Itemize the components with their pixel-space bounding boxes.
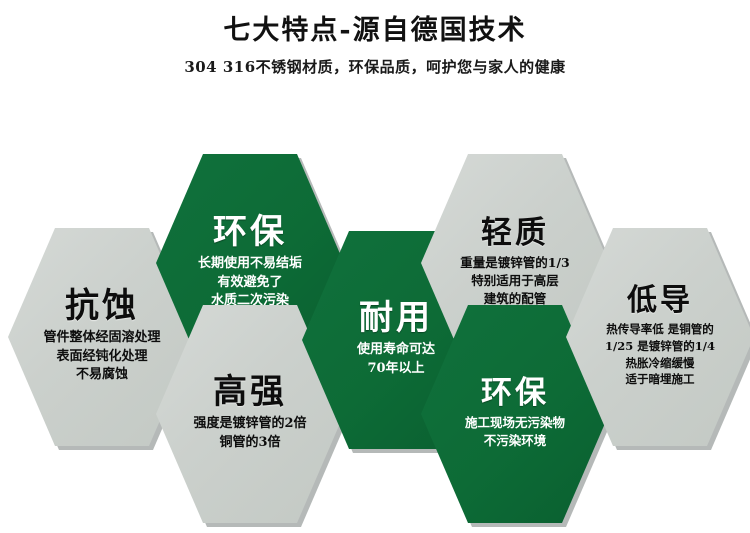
hex-detail-line: 不易腐蚀: [43, 366, 160, 385]
hex-detail-line: 热胀冷缩缓慢: [605, 355, 715, 372]
hex-detail-line: 适于暗埋施工: [605, 371, 715, 388]
hex-headline: 轻质: [481, 218, 549, 249]
hex-detail-line: 长期使用不易结垢: [198, 255, 302, 274]
hex-detail-line: 特别适用于高层: [460, 272, 569, 290]
hex-detail-lines: 重量是镀锌管的1/3 特别适用于高层 建筑的配管: [460, 254, 569, 308]
hex-detail-line: 铜管的3倍: [193, 434, 306, 453]
hex-detail-lines: 使用寿命可达 70年以上: [357, 341, 435, 379]
hex-detail-line: 70年以上: [357, 360, 435, 379]
hex-detail-lines: 强度是镀锌管的2倍 铜管的3倍: [193, 415, 306, 453]
infographic-canvas: 七大特点-源自德国技术 304 316不锈钢材质，环保品质，呵护您与家人的健康 …: [0, 0, 750, 533]
hex-headline: 环保: [213, 215, 287, 249]
hex-detail-line: 热传导率低 是铜管的: [605, 321, 715, 338]
hex-detail-lines: 施工现场无污染物 不污染环境: [465, 414, 565, 450]
hex-detail-line: 施工现场无污染物: [465, 414, 565, 432]
hex-headline: 抗蚀: [65, 289, 139, 323]
hexagon-honeycomb: 抗蚀 管件整体经固溶处理 表面经钝化处理 不易腐蚀 环保 长期使用不易结垢 有效…: [0, 0, 750, 533]
hex-detail-line: 重量是镀锌管的1/3: [460, 254, 569, 272]
hex-headline: 低导: [627, 286, 693, 316]
hex-headline: 耐用: [359, 301, 433, 335]
hex-headline: 环保: [481, 378, 549, 409]
hex-detail-line: 强度是镀锌管的2倍: [193, 415, 306, 434]
hex-detail-lines: 长期使用不易结垢 有效避免了 水质二次污染: [198, 255, 302, 312]
hex-detail-lines: 管件整体经固溶处理 表面经钝化处理 不易腐蚀: [43, 329, 160, 386]
hex-detail-line: 表面经钝化处理: [43, 348, 160, 367]
hex-detail-lines: 热传导率低 是铜管的 1/25 是镀锌管的1/4 热胀冷缩缓慢 适于暗埋施工: [605, 321, 715, 388]
hex-detail-line: 1/25 是镀锌管的1/4: [605, 338, 715, 355]
hex-detail-line: 有效避免了: [198, 274, 302, 293]
hex-detail-line: 不污染环境: [465, 432, 565, 450]
hex-detail-line: 管件整体经固溶处理: [43, 329, 160, 348]
hex-detail-line: 使用寿命可达: [357, 341, 435, 360]
hex-headline: 高强: [213, 375, 287, 409]
